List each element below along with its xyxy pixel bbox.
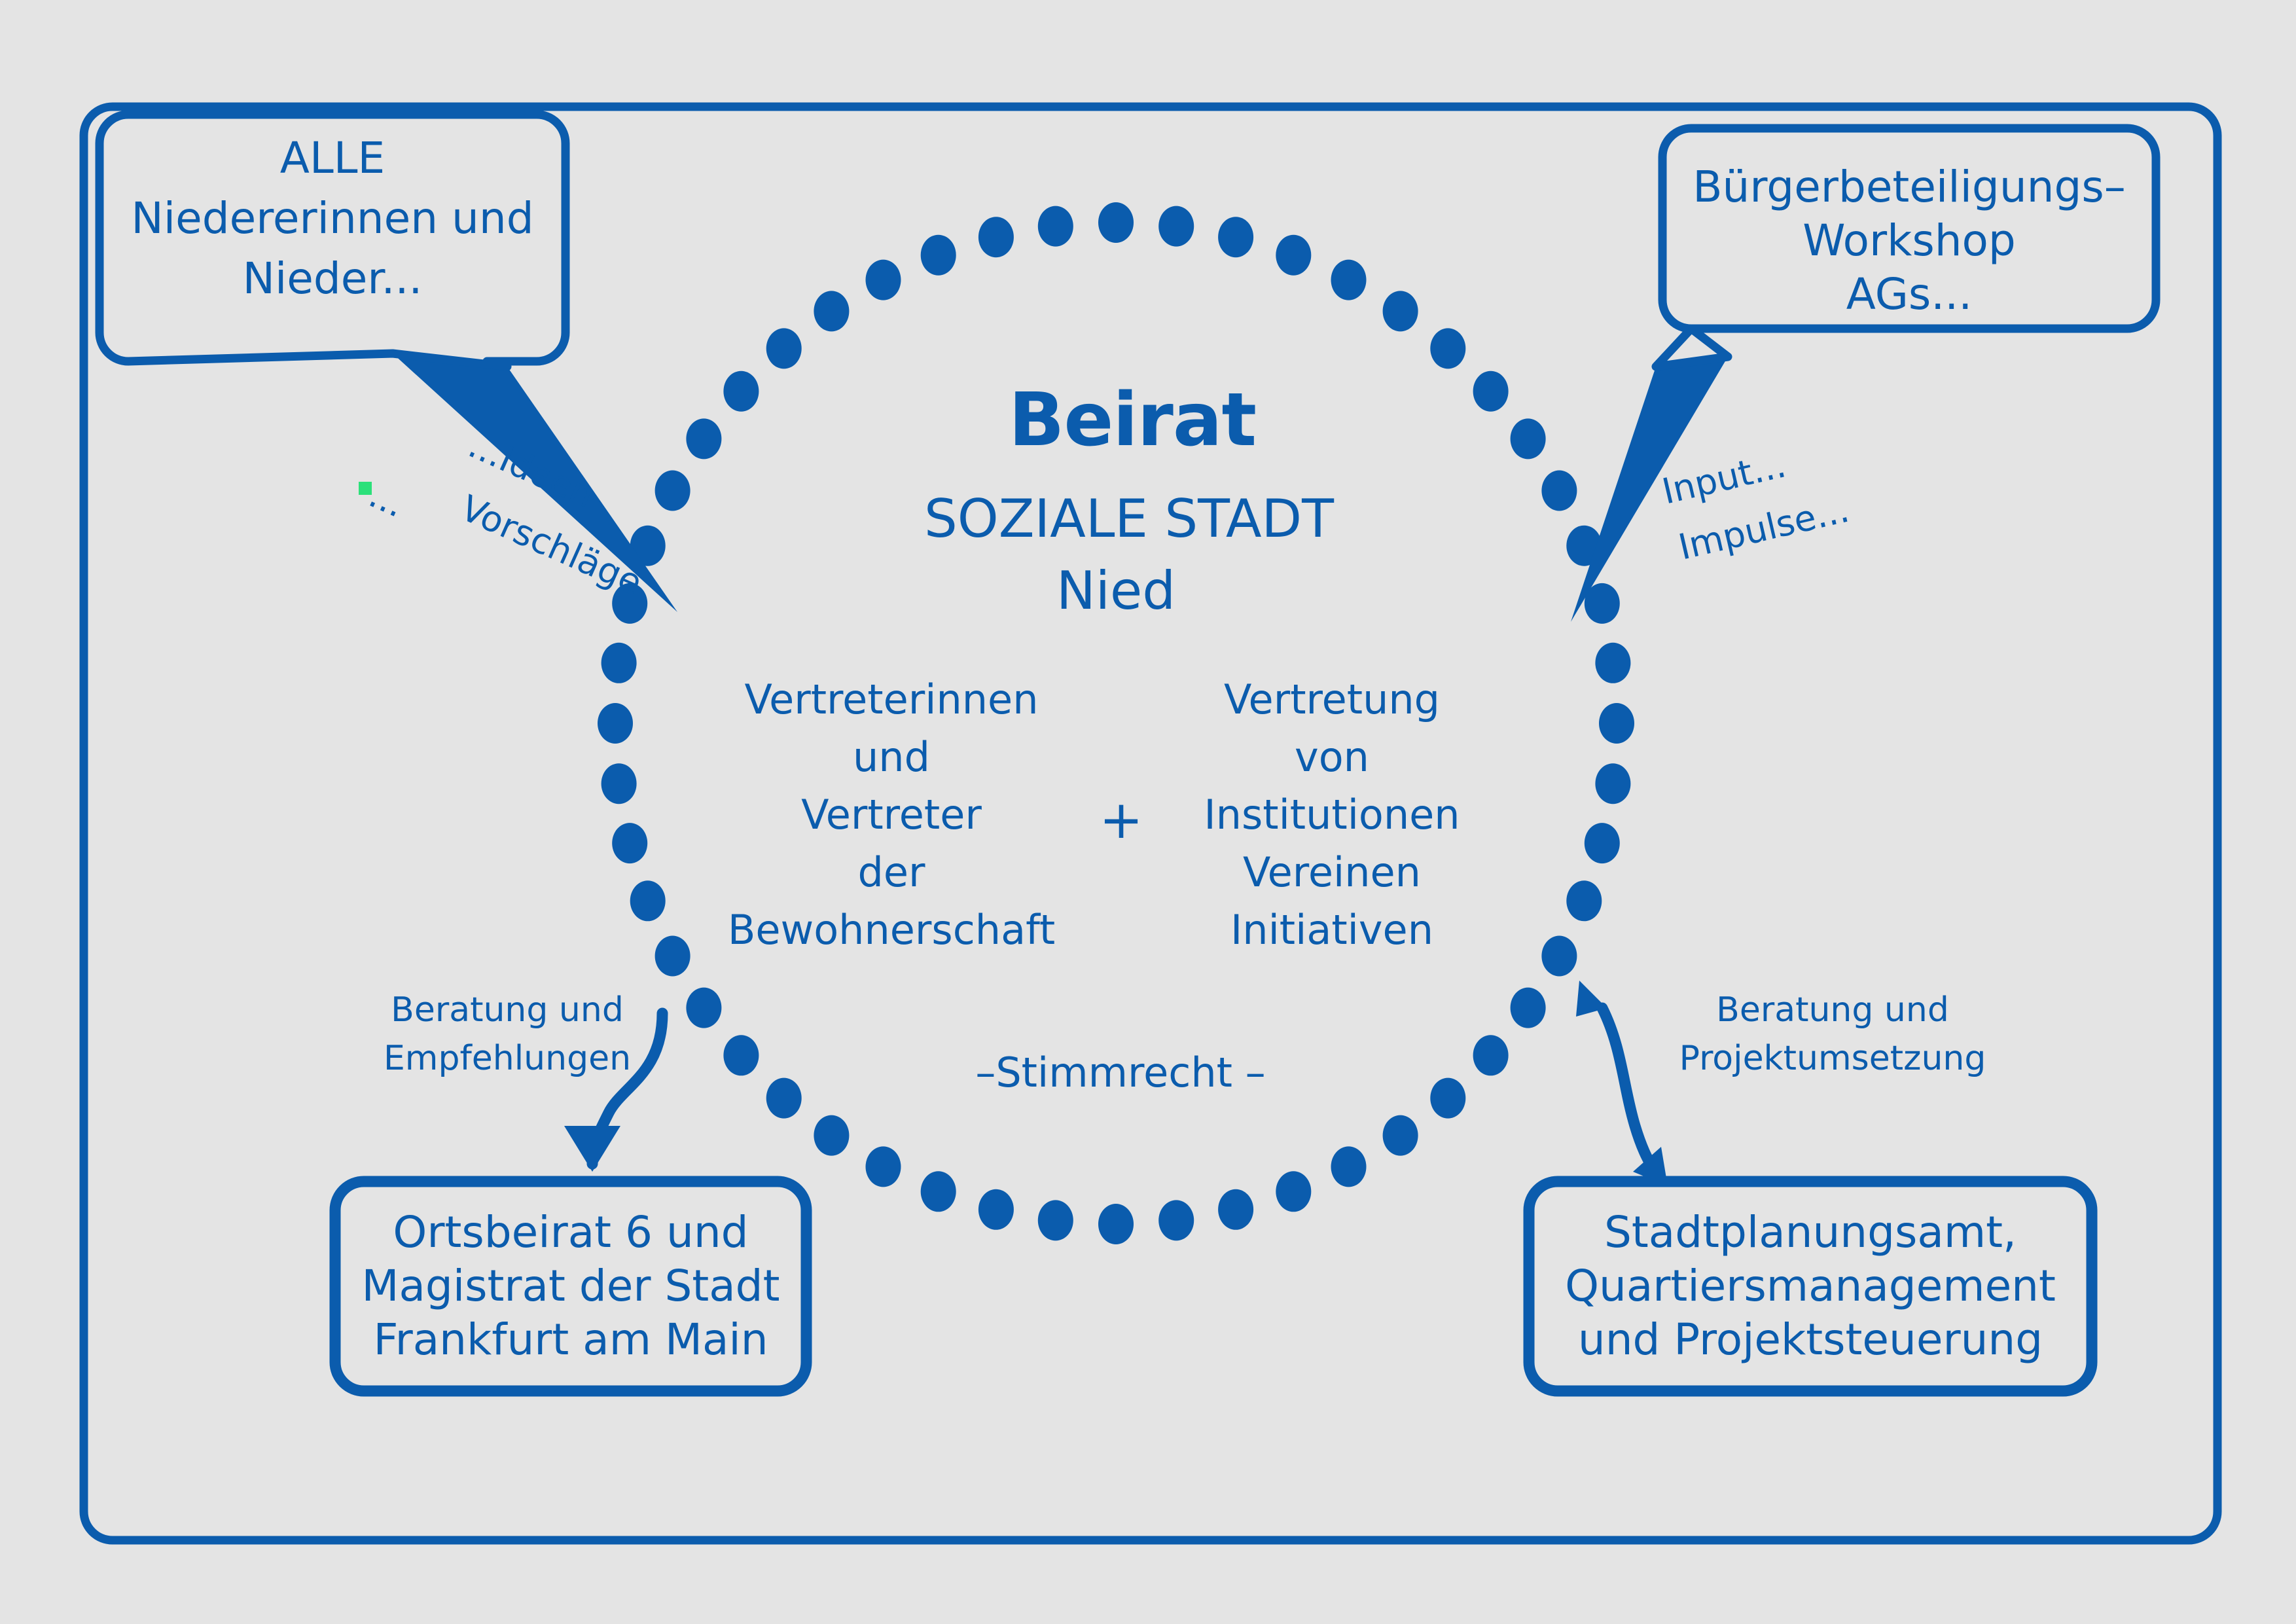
- circle-dot: [723, 371, 759, 412]
- green-marker-dot: [359, 482, 372, 495]
- center-right-line-2: von: [1295, 733, 1369, 781]
- circle-dot: [766, 328, 802, 369]
- annot-beratung-left-line-1: Beratung und: [391, 990, 624, 1030]
- circle-dot: [1473, 1035, 1509, 1075]
- arrow-right-curve: [1602, 1008, 1655, 1172]
- circle-dot: [921, 235, 956, 276]
- circle-dot: [655, 936, 691, 977]
- arrow-left-beratung: Beratung und Empfehlungen: [384, 990, 662, 1172]
- circle-dot: [723, 1035, 759, 1075]
- center-title: Beirat: [1009, 378, 1256, 463]
- circle-dot: [866, 1146, 901, 1187]
- circle-dot: [1158, 1200, 1194, 1240]
- circle-dot: [686, 418, 721, 459]
- box-bottom-right-line-3: und Projektsteuerung: [1578, 1314, 2043, 1365]
- circle-dot: [1599, 703, 1634, 744]
- circle-dot: [1473, 371, 1509, 412]
- circle-dot: [1430, 328, 1465, 369]
- circle-dot: [1098, 1204, 1134, 1244]
- annot-beratung-right-line-1: Beratung und: [1716, 990, 1949, 1030]
- circle-dot: [1331, 1146, 1367, 1187]
- circle-dot: [601, 763, 637, 804]
- bubble-top-right-line-1: Bürgerbeteiligungs–: [1693, 162, 2126, 212]
- center-right-line-3: Institutionen: [1204, 791, 1460, 839]
- diagram-canvas: ALLE Niedererinnen und Nieder... Bürgerb…: [0, 0, 2296, 1624]
- annot-beratung-right-line-2: Projektumsetzung: [1679, 1039, 1986, 1078]
- circle-dot: [1383, 1115, 1418, 1156]
- circle-dot: [601, 643, 637, 683]
- bubble-top-right[interactable]: Bürgerbeteiligungs– Workshop AGs...: [1656, 128, 2156, 367]
- arrow-left-head: [564, 1126, 620, 1172]
- circle-dot: [1511, 418, 1546, 459]
- bubble-top-left[interactable]: ALLE Niedererinnen und Nieder...: [99, 115, 565, 367]
- circle-dot: [598, 703, 633, 744]
- center-left-line-4: der: [858, 848, 926, 896]
- bubble-top-right-line-3: AGs...: [1846, 269, 1972, 319]
- circle-dot: [1218, 217, 1253, 257]
- diagram-root: ALLE Niedererinnen und Nieder... Bürgerb…: [0, 0, 2296, 1624]
- box-bottom-right-line-1: Stadtplanungsamt,: [1604, 1207, 2017, 1257]
- circle-dot: [1158, 206, 1194, 247]
- bubble-top-left-line-1: ALLE: [280, 133, 385, 183]
- circle-dot: [1038, 1200, 1073, 1240]
- circle-dot: [866, 260, 901, 300]
- center-subtitle2: Nied: [1056, 560, 1175, 621]
- circle-dot: [1098, 202, 1134, 243]
- center-left-line-3: Vertreter: [801, 791, 982, 839]
- circle-dot: [978, 217, 1014, 257]
- center-left-line-1: Vertreterinnen: [744, 676, 1038, 723]
- center-content: Beirat SOZIALE STADT Nied Vertreterinnen…: [728, 378, 1460, 1096]
- plus-sign: +: [1099, 789, 1143, 850]
- center-right-line-1: Vertretung: [1224, 676, 1440, 723]
- circle-dot: [1276, 235, 1311, 276]
- circle-dot: [1541, 936, 1577, 977]
- bubble-top-left-line-2: Niedererinnen und: [131, 193, 533, 244]
- circle-dot: [630, 880, 666, 921]
- box-bottom-left-line-1: Ortsbeirat 6 und: [393, 1207, 748, 1257]
- circle-dot: [1430, 1078, 1465, 1119]
- bubble-top-left-line-3: Nieder...: [243, 253, 423, 304]
- circle-dot: [1595, 643, 1630, 683]
- center-left-line-5: Bewohnerschaft: [728, 906, 1055, 954]
- circle-dot: [1331, 260, 1367, 300]
- circle-dot: [1511, 988, 1546, 1028]
- circle-dot: [1585, 823, 1620, 863]
- circle-dot: [921, 1171, 956, 1212]
- box-bottom-right-line-2: Quartiersmanagement: [1565, 1261, 2056, 1311]
- center-right-line-5: Initiativen: [1230, 906, 1433, 954]
- box-bottom-left[interactable]: Ortsbeirat 6 und Magistrat der Stadt Fra…: [335, 1182, 806, 1391]
- circle-dot: [1595, 763, 1630, 804]
- box-bottom-left-line-2: Magistrat der Stadt: [362, 1261, 780, 1311]
- center-right-line-4: Vereinen: [1243, 848, 1421, 896]
- circle-dot: [1566, 880, 1602, 921]
- circle-dot: [612, 823, 647, 863]
- circle-dot: [655, 471, 691, 511]
- circle-dot: [766, 1078, 802, 1119]
- circle-dot: [1276, 1171, 1311, 1212]
- circle-dot: [978, 1189, 1014, 1230]
- circle-dot: [1038, 206, 1073, 247]
- box-bottom-right[interactable]: Stadtplanungsamt, Quartiersmanagement un…: [1529, 1182, 2092, 1391]
- circle-dot: [1218, 1189, 1253, 1230]
- annot-input-line-1: Input...: [1659, 444, 1790, 512]
- circle-dot: [1541, 471, 1577, 511]
- bubble-top-right-line-2: Workshop: [1803, 215, 2016, 266]
- annot-input: Input... Impulse...: [1659, 444, 1853, 568]
- annot-beratung-left-line-2: Empfehlungen: [384, 1039, 631, 1078]
- circle-dot: [814, 1115, 849, 1156]
- circle-dot: [814, 291, 849, 331]
- center-subtitle: SOZIALE STADT: [924, 488, 1335, 549]
- circle-dot: [686, 988, 721, 1028]
- arrow-right-beratung: Beratung und Projektumsetzung: [1576, 981, 1986, 1186]
- center-left-line-2: und: [853, 733, 930, 781]
- circle-dot: [1383, 291, 1418, 331]
- stimmrecht-label: –Stimmrecht –: [975, 1049, 1265, 1096]
- box-bottom-left-line-3: Frankfurt am Main: [373, 1314, 768, 1365]
